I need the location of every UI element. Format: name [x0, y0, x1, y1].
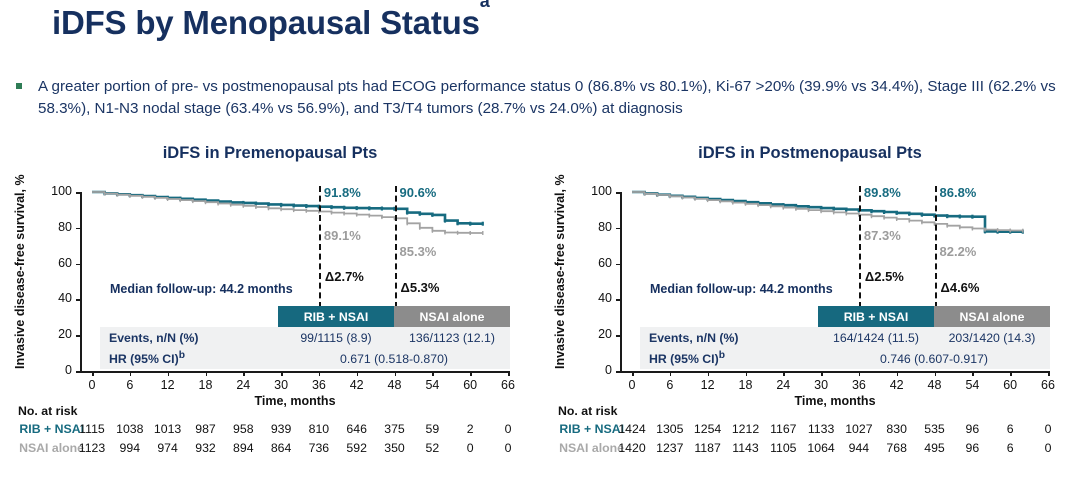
median-followup-premenopausal: Median follow-up: 44.2 months	[110, 282, 293, 296]
x-tick-label: 18	[191, 378, 221, 392]
x-tick-mark	[783, 371, 785, 376]
landmark-delta-48mo: Δ5.3%	[401, 280, 440, 295]
x-tick-mark	[1048, 371, 1050, 376]
risk-cell: 1305	[650, 422, 690, 436]
table-row: Events, n/N (%) 99/1115 (8.9) 136/1123 (…	[100, 327, 510, 348]
stats-row-label-events: Events, n/N (%)	[100, 327, 278, 348]
risk-cell: 6	[990, 422, 1030, 436]
y-tick-label: 20	[44, 327, 72, 341]
y-tick-label: 0	[44, 363, 72, 377]
risk-cell: 52	[412, 441, 452, 455]
x-tick-label: 42	[342, 378, 372, 392]
risk-table-title: No. at risk	[558, 404, 617, 418]
x-tick-label: 24	[228, 378, 258, 392]
y-tick-mark	[616, 228, 621, 230]
x-tick-label: 60	[455, 378, 485, 392]
plot-area-premenopausal: Invasive disease-free survival, % 020406…	[0, 140, 540, 430]
landmark-delta-48mo: Δ4.6%	[941, 280, 980, 295]
stats-value-events-nsai: 203/1420 (14.3)	[934, 327, 1050, 348]
risk-cell: 768	[877, 441, 917, 455]
page-title: iDFS by Menopausal Statusa	[52, 4, 490, 42]
risk-cell: 939	[261, 422, 301, 436]
y-axis-label-postmenopausal: Invasive disease-free survival, %	[550, 190, 570, 372]
risk-cell: 96	[952, 441, 992, 455]
median-followup-postmenopausal: Median follow-up: 44.2 months	[650, 282, 833, 296]
risk-cell: 1237	[650, 441, 690, 455]
stats-header-nsai: NSAI alone	[394, 306, 510, 327]
stats-value-events-rib: 99/1115 (8.9)	[278, 327, 394, 348]
bullet-text: A greater portion of pre- vs postmenopau…	[38, 76, 1058, 120]
stats-row-label-hr: HR (95% CI)b	[640, 348, 818, 369]
x-tick-mark	[243, 371, 245, 376]
y-tick-label: 40	[44, 291, 72, 305]
x-tick-mark	[897, 371, 899, 376]
x-tick-mark	[357, 371, 359, 376]
x-tick-label: 18	[731, 378, 761, 392]
x-tick-label: 42	[882, 378, 912, 392]
landmark-nsai-value-48mo: 85.3%	[400, 244, 437, 259]
x-tick-mark	[1010, 371, 1012, 376]
x-tick-label: 0	[617, 378, 647, 392]
y-tick-label: 20	[584, 327, 612, 341]
x-tick-mark	[168, 371, 170, 376]
risk-cell: 994	[110, 441, 150, 455]
y-tick-mark	[76, 192, 81, 194]
risk-cell: 1187	[688, 441, 728, 455]
landmark-rib-value-48mo: 90.6%	[400, 185, 437, 200]
stats-value-events-rib: 164/1424 (11.5)	[818, 327, 934, 348]
y-tick-label: 100	[584, 184, 612, 198]
stats-table-postmenopausal: RIB + NSAI NSAI alone Events, n/N (%) 16…	[640, 306, 1050, 369]
landmark-line-36mo	[319, 186, 321, 308]
x-tick-label: 48	[380, 378, 410, 392]
stats-table-premenopausal: RIB + NSAI NSAI alone Events, n/N (%) 99…	[100, 306, 510, 369]
risk-cell: 1420	[612, 441, 652, 455]
risk-cell: 1064	[801, 441, 841, 455]
y-tick-mark	[616, 371, 621, 373]
x-tick-mark	[470, 371, 472, 376]
risk-cell: 1123	[72, 441, 112, 455]
y-tick-label: 80	[584, 220, 612, 234]
y-tick-mark	[616, 264, 621, 266]
y-axis-line	[80, 192, 82, 372]
y-tick-mark	[616, 192, 621, 194]
risk-cell: 830	[877, 422, 917, 436]
stats-header-row: RIB + NSAI NSAI alone	[640, 306, 1050, 327]
table-row: Events, n/N (%) 164/1424 (11.5) 203/1420…	[640, 327, 1050, 348]
risk-cell: 6	[990, 441, 1030, 455]
risk-cell: 974	[148, 441, 188, 455]
risk-cell: 646	[337, 422, 377, 436]
y-tick-mark	[76, 264, 81, 266]
risk-cell: 987	[186, 422, 226, 436]
risk-cell: 1143	[726, 441, 766, 455]
x-tick-mark	[508, 371, 510, 376]
y-tick-label: 80	[44, 220, 72, 234]
y-tick-label: 60	[44, 256, 72, 270]
x-tick-label: 12	[693, 378, 723, 392]
risk-cell: 592	[337, 441, 377, 455]
x-tick-label: 0	[77, 378, 107, 392]
stats-value-hr: 0.671 (0.518-0.870)	[278, 348, 510, 369]
risk-cell: 1115	[72, 422, 112, 436]
square-bullet-icon	[16, 83, 22, 89]
x-tick-mark	[708, 371, 710, 376]
risk-cell: 736	[299, 441, 339, 455]
x-tick-mark	[746, 371, 748, 376]
x-tick-mark	[632, 371, 634, 376]
risk-cell: 1105	[763, 441, 803, 455]
y-tick-mark	[76, 335, 81, 337]
slide-root: iDFS by Menopausal Statusa A greater por…	[0, 0, 1080, 482]
risk-table-title: No. at risk	[18, 404, 77, 418]
y-axis-line	[620, 192, 622, 372]
risk-cell: 1167	[763, 422, 803, 436]
x-tick-mark	[281, 371, 283, 376]
x-tick-label: 54	[417, 378, 447, 392]
landmark-rib-value-36mo: 89.8%	[864, 185, 901, 200]
risk-cell: 0	[450, 441, 490, 455]
y-tick-label: 40	[584, 291, 612, 305]
landmark-nsai-value-36mo: 89.1%	[324, 228, 361, 243]
stats-header-blank	[640, 306, 818, 327]
y-tick-mark	[76, 228, 81, 230]
x-tick-label: 66	[1033, 378, 1063, 392]
stats-row-label-hr: HR (95% CI)b	[100, 348, 278, 369]
risk-cell: 375	[375, 422, 415, 436]
x-tick-mark	[972, 371, 974, 376]
y-tick-label: 0	[584, 363, 612, 377]
stats-header-nsai: NSAI alone	[934, 306, 1050, 327]
x-tick-label: 12	[153, 378, 183, 392]
chart-panel-postmenopausal: iDFS in Postmenopausal Pts Invasive dise…	[540, 140, 1080, 482]
bullet-row: A greater portion of pre- vs postmenopau…	[16, 76, 1066, 120]
risk-cell: 810	[299, 422, 339, 436]
stats-header-rib: RIB + NSAI	[278, 306, 394, 327]
risk-cell: 59	[412, 422, 452, 436]
table-row: HR (95% CI)b 0.671 (0.518-0.870)	[100, 348, 510, 369]
risk-cell: 932	[186, 441, 226, 455]
stats-header-blank	[100, 306, 278, 327]
risk-cell: 350	[375, 441, 415, 455]
risk-cell: 1013	[148, 422, 188, 436]
x-tick-mark	[670, 371, 672, 376]
risk-cell: 0	[1028, 441, 1068, 455]
x-tick-mark	[130, 371, 132, 376]
x-tick-label: 24	[768, 378, 798, 392]
risk-cell: 0	[1028, 422, 1068, 436]
risk-cell: 894	[223, 441, 263, 455]
y-tick-mark	[616, 299, 621, 301]
landmark-line-48mo	[395, 186, 397, 308]
x-tick-label: 48	[920, 378, 950, 392]
x-tick-label: 36	[844, 378, 874, 392]
page-title-text: iDFS by Menopausal Status	[52, 4, 480, 41]
x-tick-mark	[319, 371, 321, 376]
stats-header-rib: RIB + NSAI	[818, 306, 934, 327]
landmark-rib-value-36mo: 91.8%	[324, 185, 361, 200]
risk-cell: 1027	[839, 422, 879, 436]
x-tick-label: 30	[806, 378, 836, 392]
risk-cell: 96	[952, 422, 992, 436]
x-axis-label-premenopausal: Time, months	[80, 394, 510, 408]
x-tick-label: 30	[266, 378, 296, 392]
x-tick-mark	[432, 371, 434, 376]
risk-cell: 1424	[612, 422, 652, 436]
y-tick-label: 60	[584, 256, 612, 270]
x-tick-mark	[206, 371, 208, 376]
landmark-rib-value-48mo: 86.8%	[940, 185, 977, 200]
x-tick-label: 6	[655, 378, 685, 392]
risk-cell: 0	[488, 422, 528, 436]
landmark-delta-36mo: Δ2.7%	[325, 269, 364, 284]
risk-cell: 1212	[726, 422, 766, 436]
y-tick-mark	[76, 371, 81, 373]
risk-cell: 495	[915, 441, 955, 455]
landmark-delta-36mo: Δ2.5%	[865, 269, 904, 284]
x-tick-label: 36	[304, 378, 334, 392]
x-axis-line	[620, 371, 1050, 373]
landmark-line-48mo	[935, 186, 937, 308]
risk-cell: 944	[839, 441, 879, 455]
x-tick-mark	[395, 371, 397, 376]
y-tick-mark	[616, 335, 621, 337]
landmark-nsai-value-36mo: 87.3%	[864, 228, 901, 243]
chart-panel-premenopausal: iDFS in Premenopausal Pts Invasive disea…	[0, 140, 540, 482]
table-row: HR (95% CI)b 0.746 (0.607-0.917)	[640, 348, 1050, 369]
risk-cell: 0	[488, 441, 528, 455]
x-tick-label: 54	[957, 378, 987, 392]
plot-area-postmenopausal: Invasive disease-free survival, % 020406…	[540, 140, 1080, 430]
x-tick-label: 66	[493, 378, 523, 392]
page-title-superscript: a	[480, 0, 490, 11]
y-axis-label-premenopausal: Invasive disease-free survival, %	[10, 190, 30, 372]
risk-cell: 864	[261, 441, 301, 455]
x-tick-mark	[859, 371, 861, 376]
landmark-nsai-value-48mo: 82.2%	[940, 244, 977, 259]
risk-cell: 1133	[801, 422, 841, 436]
x-tick-mark	[92, 371, 94, 376]
x-axis-label-postmenopausal: Time, months	[620, 394, 1050, 408]
x-axis-line	[80, 371, 510, 373]
y-tick-label: 100	[44, 184, 72, 198]
landmark-line-36mo	[859, 186, 861, 308]
risk-cell: 1038	[110, 422, 150, 436]
stats-header-row: RIB + NSAI NSAI alone	[100, 306, 510, 327]
stats-value-events-nsai: 136/1123 (12.1)	[394, 327, 510, 348]
stats-row-label-events: Events, n/N (%)	[640, 327, 818, 348]
risk-cell: 1254	[688, 422, 728, 436]
y-tick-mark	[76, 299, 81, 301]
risk-cell: 535	[915, 422, 955, 436]
x-tick-mark	[935, 371, 937, 376]
risk-cell: 2	[450, 422, 490, 436]
x-tick-mark	[821, 371, 823, 376]
risk-cell: 958	[223, 422, 263, 436]
x-tick-label: 6	[115, 378, 145, 392]
stats-value-hr: 0.746 (0.607-0.917)	[818, 348, 1050, 369]
x-tick-label: 60	[995, 378, 1025, 392]
